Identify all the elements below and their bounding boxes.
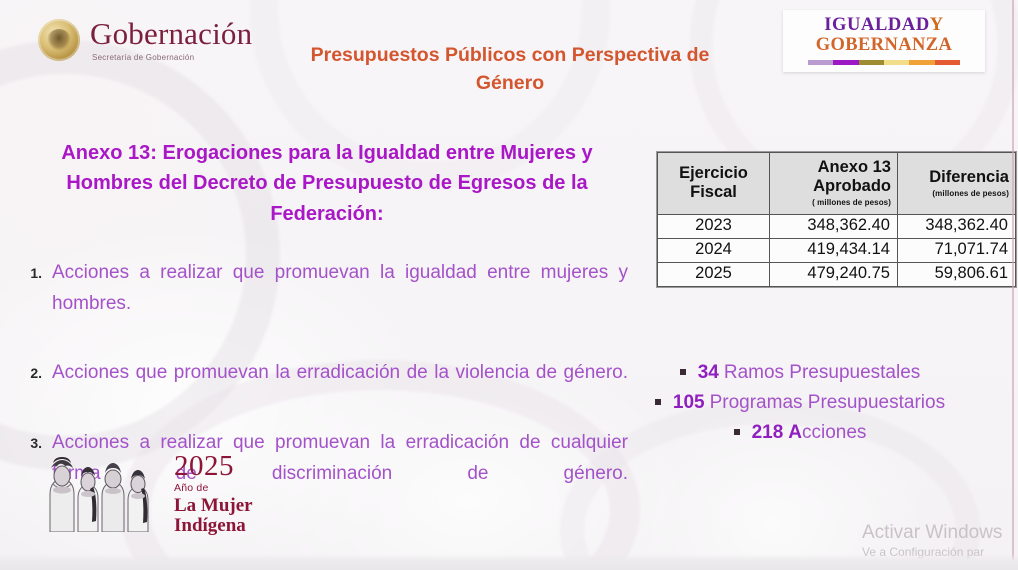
logo-color-bar xyxy=(808,60,960,65)
table-column-header: Anexo 13 Aprobado( millones de pesos) xyxy=(770,153,898,215)
stat-number: 34 xyxy=(698,362,719,384)
stat-label: Ramos Presupuestales xyxy=(724,362,920,384)
stat-label-initial: A xyxy=(788,422,802,443)
stat-item: 218Acciones xyxy=(600,422,1000,444)
column-header-unit: (millones de pesos) xyxy=(904,189,1009,198)
color-bar-segment-5 xyxy=(909,60,934,65)
column-header-title: Anexo 13 Aprobado xyxy=(813,158,891,195)
square-bullet-icon xyxy=(655,399,661,405)
stat-item: 34Ramos Presupuestales xyxy=(600,362,1000,384)
cell-diferencia: 348,362.40 xyxy=(898,214,1016,238)
gobernacion-subtitle: Secretaría de Gobernación xyxy=(92,54,252,62)
color-bar-segment-4 xyxy=(884,60,909,65)
gobernacion-title: Gobernación xyxy=(90,18,252,49)
color-bar-segment-1 xyxy=(808,60,833,65)
igualdad-gobernanza-logo: IGUALDADY GOBERNANZA xyxy=(783,10,985,72)
slide-right-border xyxy=(1012,0,1014,570)
cell-ejercicio-fiscal: 2024 xyxy=(658,238,770,262)
slide-canvas: Gobernación Secretaría de Gobernación Pr… xyxy=(0,0,1018,570)
list-item-text: Acciones que promuevan la erradicación d… xyxy=(52,358,628,420)
table-body: 2023348,362.40348,362.402024419,434.1471… xyxy=(658,214,1016,286)
cell-anexo13-aprobado: 348,362.40 xyxy=(770,214,898,238)
cell-anexo13-aprobado: 479,240.75 xyxy=(770,262,898,286)
slide-bottom-band xyxy=(0,554,1018,570)
mexican-eagle-seal-icon xyxy=(38,19,80,61)
gobernanza-word: GOBERNANZA xyxy=(816,36,953,56)
badge-ano-de: Año de xyxy=(174,483,253,494)
stat-label: Acciones xyxy=(788,422,866,444)
indigenous-women-illustration-icon xyxy=(40,454,168,532)
gobernacion-wordmark: Gobernación Secretaría de Gobernación xyxy=(90,18,252,62)
table-column-header: Diferencia(millones de pesos) xyxy=(898,153,1016,215)
stats-list: 34Ramos Presupuestales105Programas Presu… xyxy=(600,362,1000,452)
budget-table: Ejercicio FiscalAnexo 13 Aprobado( millo… xyxy=(657,152,1016,287)
color-bar-segment-3 xyxy=(859,60,884,65)
table-row: 2025479,240.7559,806.61 xyxy=(658,262,1016,286)
column-header-title: Ejercicio Fiscal xyxy=(679,164,748,201)
list-item-number: 2. xyxy=(18,358,52,420)
color-bar-segment-6 xyxy=(935,60,960,65)
cell-diferencia: 59,806.61 xyxy=(898,262,1016,286)
square-bullet-icon xyxy=(680,369,686,375)
igualdad-logo-line1: IGUALDADY xyxy=(824,16,944,36)
badge-la-mujer: La Mujer xyxy=(174,496,253,515)
list-item: 2.Acciones que promuevan la erradicación… xyxy=(18,358,628,420)
table-column-header: Ejercicio Fiscal xyxy=(658,153,770,215)
list-item: 1.Acciones a realizar que promuevan la i… xyxy=(18,258,628,350)
igualdad-word: IGUALDAD xyxy=(824,15,930,35)
table-header-row: Ejercicio FiscalAnexo 13 Aprobado( millo… xyxy=(658,153,1016,215)
ano-mujer-indigena-badge: 2025 Año de La Mujer Indígena xyxy=(40,452,253,535)
stat-item: 105Programas Presupuestarios xyxy=(600,392,1000,414)
column-header-title: Diferencia xyxy=(929,168,1009,186)
badge-indigena: Indígena xyxy=(174,516,253,535)
gobernacion-logo: Gobernación Secretaría de Gobernación xyxy=(38,18,252,62)
table-header: Ejercicio FiscalAnexo 13 Aprobado( millo… xyxy=(658,153,1016,215)
badge-text: 2025 Año de La Mujer Indígena xyxy=(174,452,253,535)
cell-diferencia: 71,071.74 xyxy=(898,238,1016,262)
list-item-number: 1. xyxy=(18,258,52,350)
anexo-heading: Anexo 13: Erogaciones para la Igualdad e… xyxy=(30,138,624,229)
cell-anexo13-aprobado: 419,434.14 xyxy=(770,238,898,262)
color-bar-segment-2 xyxy=(833,60,858,65)
column-header-unit: ( millones de pesos) xyxy=(776,198,891,207)
cell-ejercicio-fiscal: 2023 xyxy=(658,214,770,238)
stat-number: 218 xyxy=(752,422,784,444)
list-item-text: Acciones a realizar que promuevan la igu… xyxy=(52,258,628,350)
table-row: 2024419,434.1471,071.74 xyxy=(658,238,1016,262)
square-bullet-icon xyxy=(734,429,740,435)
cell-ejercicio-fiscal: 2025 xyxy=(658,262,770,286)
page-title: Presupuestos Públicos con Perspectiva de… xyxy=(290,42,730,97)
table-row: 2023348,362.40348,362.40 xyxy=(658,214,1016,238)
stat-number: 105 xyxy=(673,392,705,414)
stat-label: Programas Presupuestarios xyxy=(710,392,946,414)
igualdad-conjunction: Y xyxy=(930,15,944,35)
badge-year: 2025 xyxy=(174,452,253,481)
activation-title: Activar Windows xyxy=(862,521,1002,545)
